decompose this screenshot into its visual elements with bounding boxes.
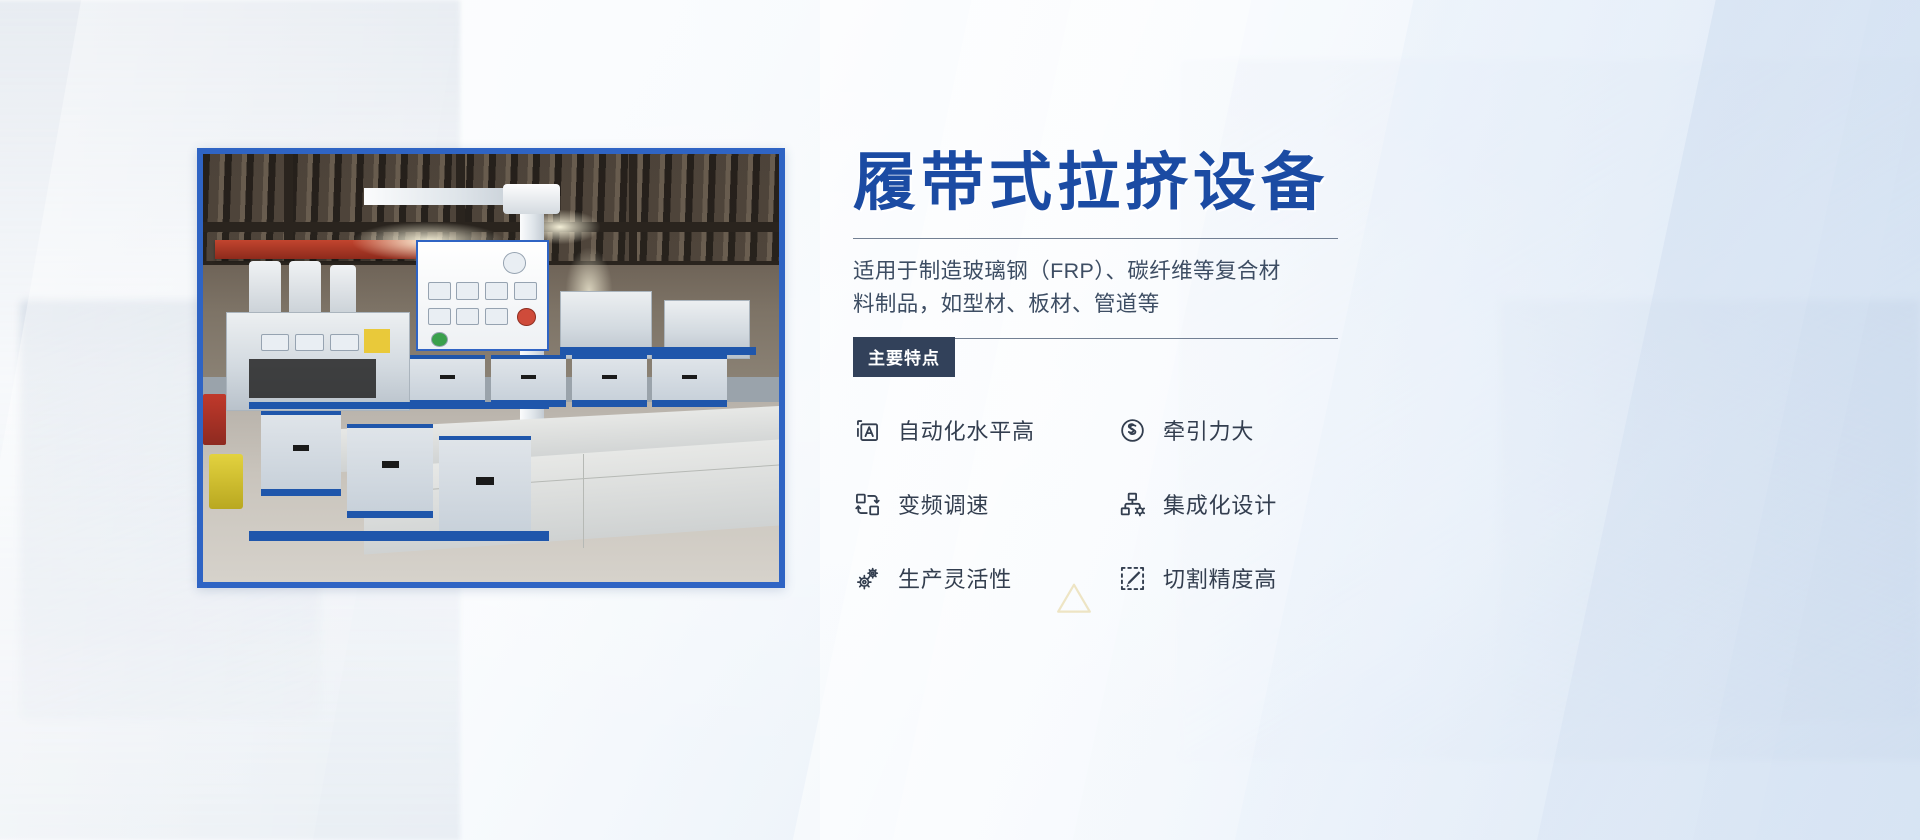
description-line-1: 适用于制造玻璃钢（FRP）、碳纤维等复合材 [853,259,1281,283]
title-divider [853,238,1338,239]
feature-item: 生产灵活性 [853,562,1118,594]
product-photo-frame [197,148,785,588]
product-description: 适用于制造玻璃钢（FRP）、碳纤维等复合材 料制品，如型材、板材、管道等 [853,255,1345,321]
feature-item: 集成化设计 [1118,488,1383,520]
feature-label: 牵引力大 [1163,414,1254,446]
traction-force-circle-icon [1118,416,1146,444]
feature-item: 切割精度高 [1118,562,1383,594]
page-title: 履带式拉挤设备 [853,150,1393,216]
banner-content: 履带式拉挤设备 适用于制造玻璃钢（FRP）、碳纤维等复合材 料制品，如型材、板材… [853,150,1393,594]
feature-item: 变频调速 [853,488,1118,520]
feature-label: 生产灵活性 [898,562,1012,594]
cutting-precision-pen-icon [1118,564,1146,592]
feature-item: 牵引力大 [1118,414,1383,446]
product-photo [203,154,779,582]
feature-label: 切割精度高 [1163,562,1277,594]
main-features-badge: 主要特点 [853,337,955,377]
feature-label: 自动化水平高 [898,414,1035,446]
production-flexibility-gears-icon [853,564,881,592]
automation-letter-a-icon [853,416,881,444]
variable-frequency-swap-icon [853,490,881,518]
feature-label: 集成化设计 [1163,488,1277,520]
integrated-design-hierarchy-icon [1118,490,1146,518]
badge-row: 主要特点 [853,337,1393,369]
product-banner: 履带式拉挤设备 适用于制造玻璃钢（FRP）、碳纤维等复合材 料制品，如型材、板材… [0,0,1920,840]
feature-list: 自动化水平高 牵引力大 [853,414,1393,594]
feature-label: 变频调速 [898,488,989,520]
description-line-2: 料制品，如型材、板材、管道等 [853,292,1160,316]
feature-item: 自动化水平高 [853,414,1118,446]
